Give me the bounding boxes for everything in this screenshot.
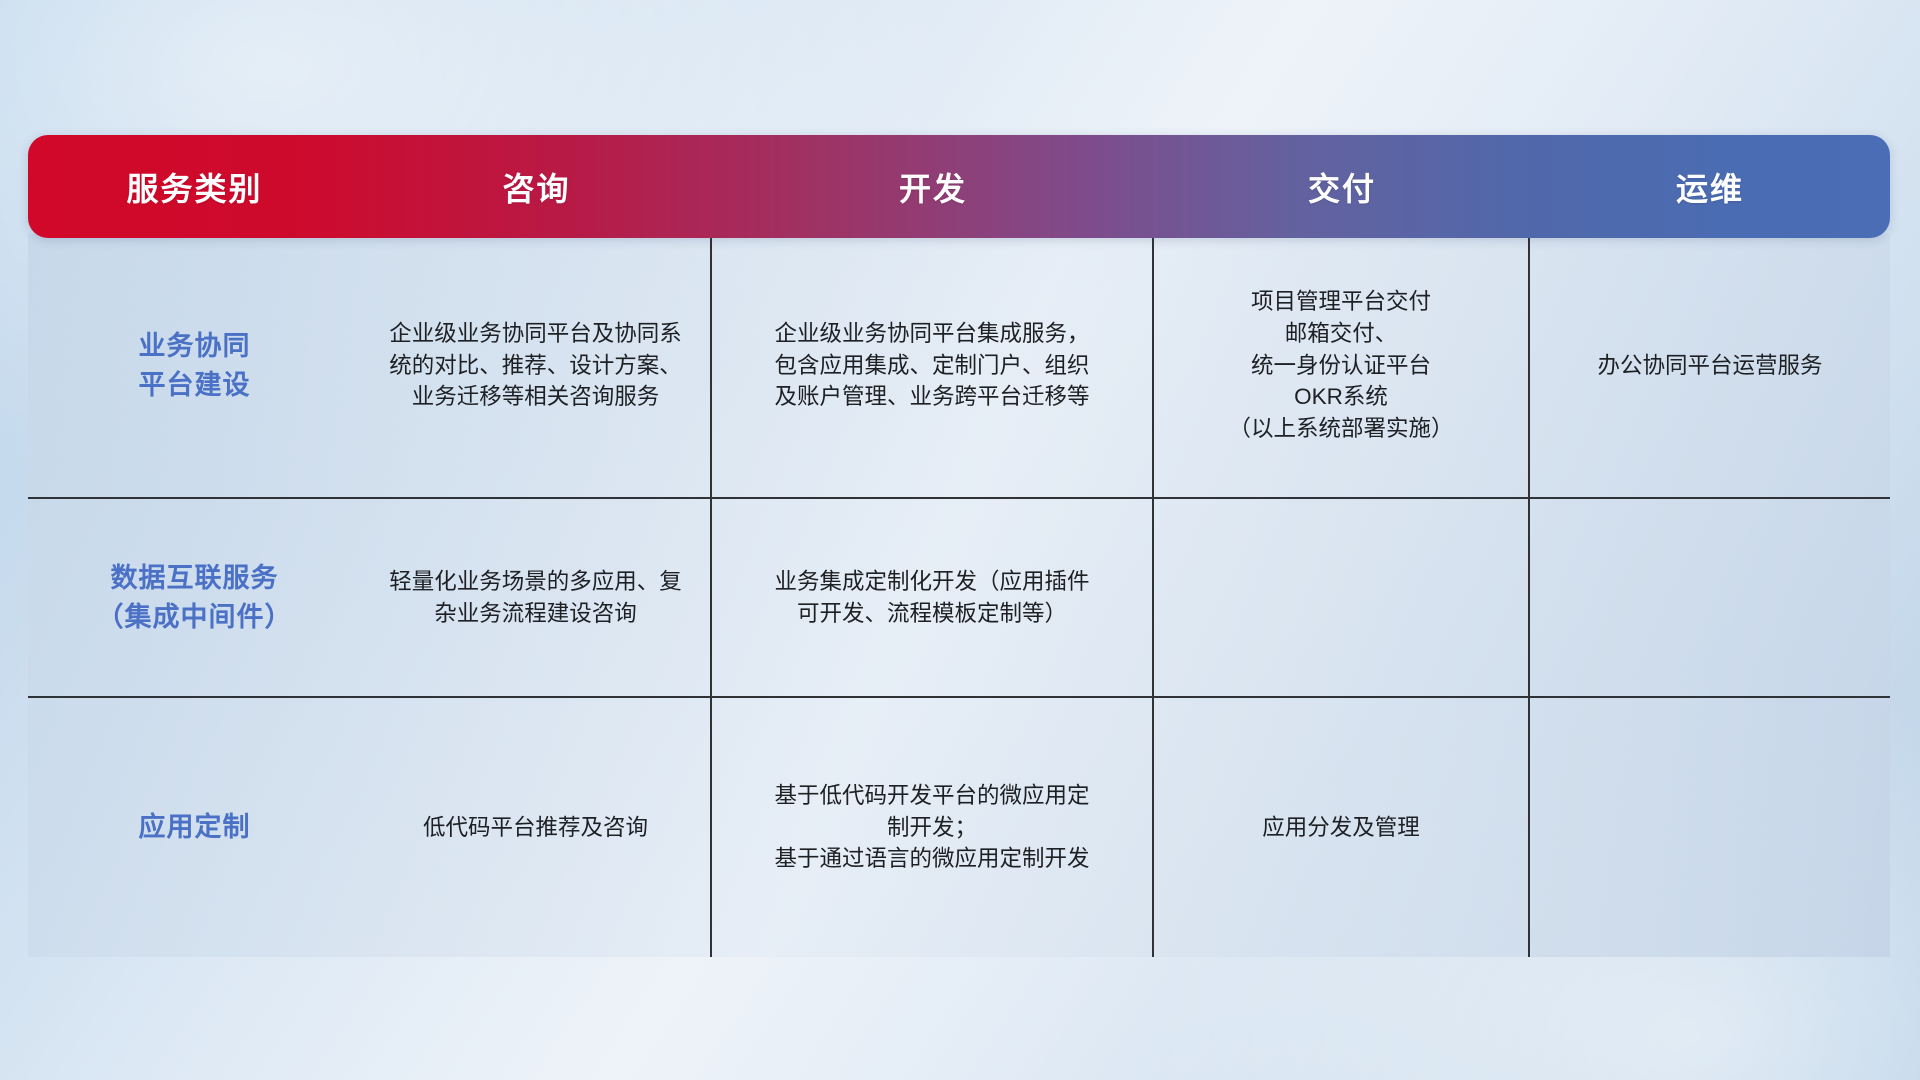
cell-operate-1: 办公协同平台运营服务 xyxy=(1530,234,1890,497)
cell-category-2: 数据互联服务 （集成中间件） xyxy=(28,499,361,696)
cell-deliver-2 xyxy=(1154,499,1530,696)
service-category-table: 服务类别 咨询 开发 交付 运维 业务协同 平台建设 企业级业务协同平台及协同系… xyxy=(28,135,1890,957)
cell-develop-1: 企业级业务协同平台集成服务， 包含应用集成、定制门户、组织 及账户管理、业务跨平… xyxy=(712,234,1154,497)
table-row: 业务协同 平台建设 企业级业务协同平台及协同系 统的对比、推荐、设计方案、 业务… xyxy=(28,234,1890,497)
cell-develop-3: 基于低代码开发平台的微应用定 制开发； 基于通过语言的微应用定制开发 xyxy=(712,698,1154,957)
cell-consult-3: 低代码平台推荐及咨询 xyxy=(361,698,712,957)
cell-category-1: 业务协同 平台建设 xyxy=(28,234,361,497)
cell-develop-2: 业务集成定制化开发（应用插件 可开发、流程模板定制等） xyxy=(712,499,1154,696)
cell-deliver-3: 应用分发及管理 xyxy=(1154,698,1530,957)
cell-category-3: 应用定制 xyxy=(28,698,361,957)
cell-operate-2 xyxy=(1530,499,1890,696)
cell-consult-1: 企业级业务协同平台及协同系 统的对比、推荐、设计方案、 业务迁移等相关咨询服务 xyxy=(361,234,712,497)
cell-consult-2: 轻量化业务场景的多应用、复 杂业务流程建设咨询 xyxy=(361,499,712,696)
column-header-category: 服务类别 xyxy=(28,135,361,238)
column-header-consult: 咨询 xyxy=(361,135,712,238)
column-header-develop: 开发 xyxy=(712,135,1154,238)
cell-deliver-1: 项目管理平台交付 邮箱交付、 统一身份认证平台 OKR系统 （以上系统部署实施） xyxy=(1154,234,1530,497)
table-row: 应用定制 低代码平台推荐及咨询 基于低代码开发平台的微应用定 制开发； 基于通过… xyxy=(28,696,1890,957)
table-body: 业务协同 平台建设 企业级业务协同平台及协同系 统的对比、推荐、设计方案、 业务… xyxy=(28,234,1890,957)
table-header-row: 服务类别 咨询 开发 交付 运维 xyxy=(28,135,1890,238)
page-root: 服务类别 咨询 开发 交付 运维 业务协同 平台建设 企业级业务协同平台及协同系… xyxy=(0,0,1920,1080)
column-header-operate: 运维 xyxy=(1530,135,1890,238)
table-row: 数据互联服务 （集成中间件） 轻量化业务场景的多应用、复 杂业务流程建设咨询 业… xyxy=(28,497,1890,696)
cell-operate-3 xyxy=(1530,698,1890,957)
column-header-deliver: 交付 xyxy=(1154,135,1530,238)
